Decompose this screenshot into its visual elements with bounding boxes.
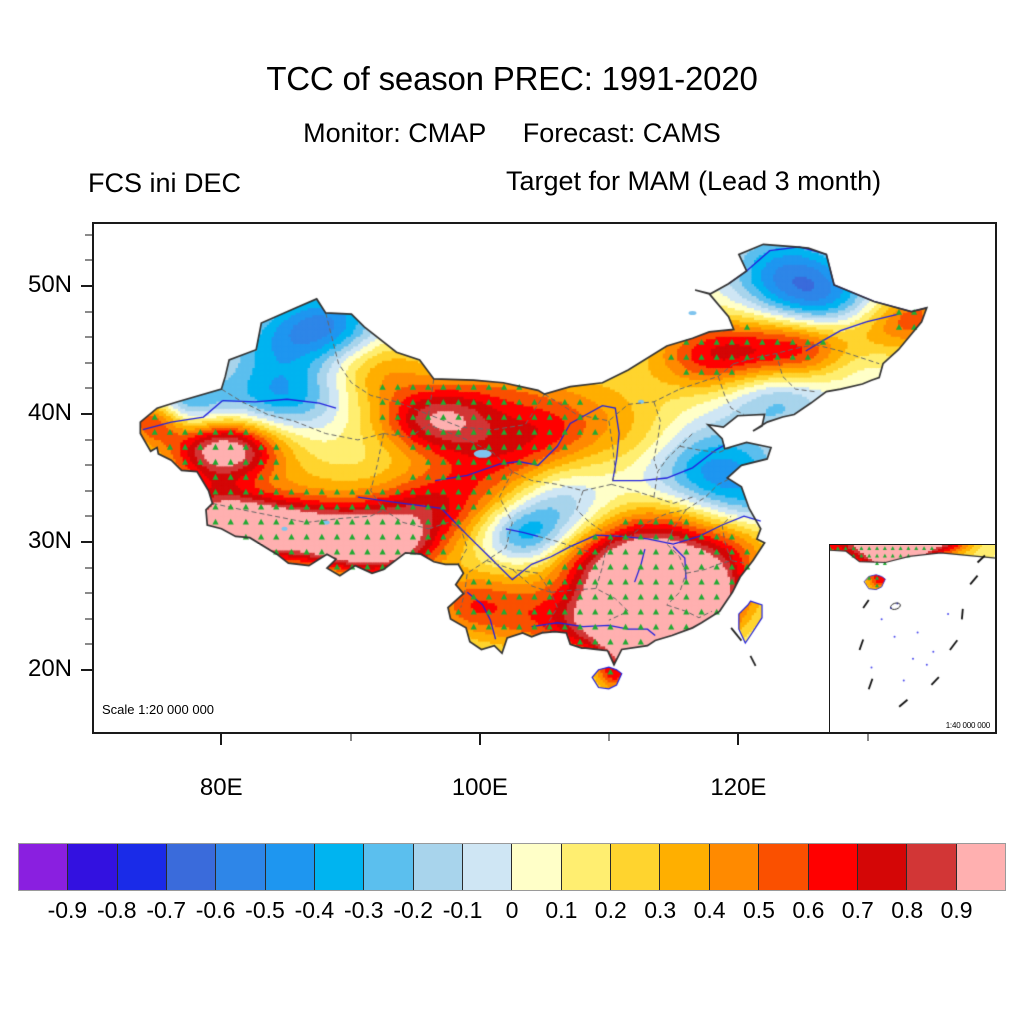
target-label: Target for MAM (Lead 3 month) — [506, 166, 881, 197]
colorbar-swatch-10[interactable] — [512, 844, 561, 890]
x-axis-label-100E: 100E — [425, 774, 535, 802]
colorbar-swatch-4[interactable] — [216, 844, 265, 890]
colorbar-swatch-2[interactable] — [118, 844, 167, 890]
colorbar-swatch-9[interactable] — [463, 844, 512, 890]
fcs-ini-label: FCS ini DEC — [88, 168, 241, 199]
y-tick-minor-42 — [85, 387, 92, 389]
y-tick-minor-44 — [85, 362, 92, 364]
colorbar-swatch-19[interactable] — [957, 844, 1005, 890]
colorbar-swatch-5[interactable] — [266, 844, 315, 890]
colorbar-swatch-15[interactable] — [759, 844, 808, 890]
colorbar-swatch-14[interactable] — [710, 844, 759, 890]
subtitle-row: Monitor: CMAP Forecast: CAMS — [0, 118, 1024, 149]
colorbar-swatch-8[interactable] — [414, 844, 463, 890]
colorbar-swatch-17[interactable] — [858, 844, 907, 890]
colorbar-swatch-0[interactable] — [19, 844, 68, 890]
y-tick-major-40 — [81, 413, 92, 415]
y-tick-minor-38 — [85, 439, 92, 441]
map-scale-text: Scale 1:20 000 000 — [102, 702, 214, 717]
y-tick-minor-34 — [85, 490, 92, 492]
x-tick-major-120 — [737, 734, 739, 745]
colorbar-swatch-13[interactable] — [660, 844, 709, 890]
colorbar-tick-18: 0.9 — [922, 897, 992, 924]
y-tick-major-20 — [81, 669, 92, 671]
colorbar-swatch-7[interactable] — [364, 844, 413, 890]
map-plot-frame: Scale 1:20 000 000 1:40 000 000 — [92, 222, 997, 734]
forecast-label: Forecast: CAMS — [523, 118, 721, 148]
colorbar-swatch-16[interactable] — [809, 844, 858, 890]
colorbar-tick-labels: -0.9-0.8-0.7-0.6-0.5-0.4-0.3-0.2-0.100.1… — [0, 897, 1024, 927]
y-tick-minor-22 — [85, 643, 92, 645]
y-axis-label-20N: 20N — [0, 655, 72, 683]
x-axis-label-120E: 120E — [683, 774, 793, 802]
colorbar-swatch-1[interactable] — [68, 844, 117, 890]
y-tick-major-30 — [81, 541, 92, 543]
colorbar-swatch-18[interactable] — [907, 844, 956, 890]
south-china-sea-inset: 1:40 000 000 — [829, 544, 997, 734]
y-axis-label-50N: 50N — [0, 271, 72, 299]
y-tick-minor-24 — [85, 618, 92, 620]
y-tick-minor-54 — [85, 234, 92, 236]
y-axis-label-40N: 40N — [0, 399, 72, 427]
x-tick-minor-90 — [350, 734, 352, 741]
x-axis-label-80E: 80E — [166, 774, 276, 802]
colorbar-swatch-12[interactable] — [611, 844, 660, 890]
x-tick-major-80 — [220, 734, 222, 745]
colorbar-swatch-11[interactable] — [562, 844, 611, 890]
colorbar-swatch-3[interactable] — [167, 844, 216, 890]
y-tick-minor-26 — [85, 592, 92, 594]
y-tick-minor-36 — [85, 464, 92, 466]
page-title: TCC of season PREC: 1991-2020 — [0, 60, 1024, 98]
y-tick-minor-32 — [85, 515, 92, 517]
y-axis-label-30N: 30N — [0, 527, 72, 555]
y-tick-minor-46 — [85, 336, 92, 338]
inset-canvas — [830, 545, 996, 733]
y-tick-minor-48 — [85, 311, 92, 313]
y-tick-major-50 — [81, 285, 92, 287]
y-tick-minor-28 — [85, 567, 92, 569]
x-tick-major-100 — [479, 734, 481, 745]
x-tick-minor-110 — [608, 734, 610, 741]
y-tick-minor-52 — [85, 259, 92, 261]
colorbar-swatch-6[interactable] — [315, 844, 364, 890]
colorbar[interactable] — [18, 843, 1006, 891]
inset-scale-text: 1:40 000 000 — [946, 721, 990, 730]
monitor-label: Monitor: CMAP — [303, 118, 486, 148]
x-tick-minor-130 — [867, 734, 869, 741]
